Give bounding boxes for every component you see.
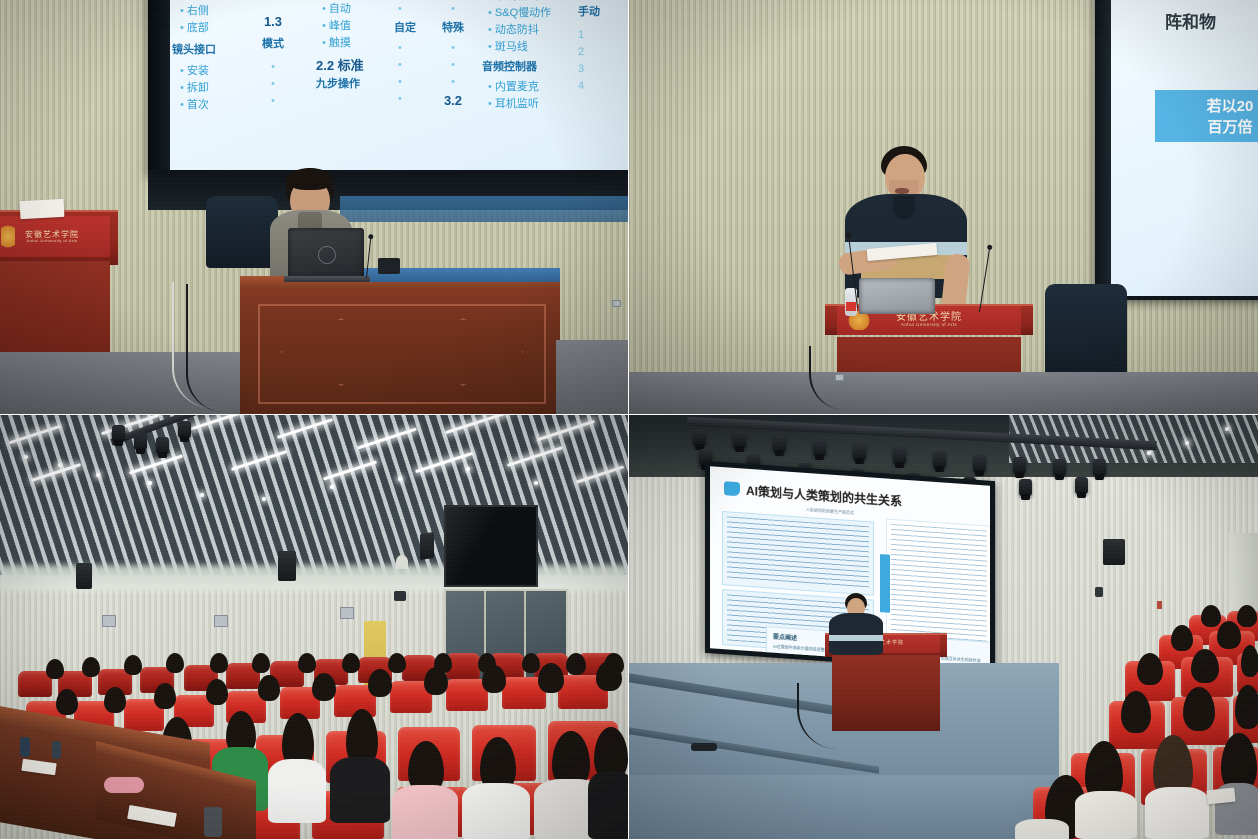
- stage-lamp: [156, 437, 169, 454]
- audience-head: [124, 655, 142, 675]
- downlight: [24, 455, 28, 459]
- stage-lamp: [733, 431, 746, 448]
- torso: [829, 613, 883, 655]
- slide-bullet-icon: [724, 481, 740, 496]
- slide-highlight-box: 若以20 百万倍: [1155, 90, 1258, 142]
- university-emblem-icon: [1, 223, 15, 249]
- stage-lamp: [1013, 457, 1026, 474]
- audience-member: [588, 727, 628, 839]
- shirt-collar: [893, 196, 915, 220]
- audience-head: [206, 679, 228, 705]
- pink-bag: [104, 777, 144, 793]
- panel-top-left: 制） 右侧 底部 镜头接口 安装 拆卸 首次 1.3 模式 ••• 关键功能 自…: [0, 0, 628, 414]
- wall-outlet: [340, 607, 354, 619]
- floor: [629, 372, 1258, 414]
- audience-head: [424, 667, 448, 695]
- stage-backdrop: [340, 196, 628, 222]
- stage-lamp: [1019, 479, 1032, 496]
- audience-head: [342, 653, 360, 673]
- slide-title: AI策划与人类策划的共生关系: [746, 482, 902, 510]
- audience-head: [482, 665, 506, 693]
- stage-lamp: [933, 451, 946, 468]
- wall-speaker: [278, 551, 296, 581]
- slide-subtitle: 人机协同的创意生产新范式: [806, 507, 854, 516]
- wall-speaker: [76, 563, 92, 589]
- wall-outlet: [102, 615, 116, 627]
- audience-torso: [1015, 819, 1069, 839]
- podium-paper: [20, 199, 65, 219]
- audience-head: [596, 661, 622, 691]
- panel-top-right: 阵和物 若以20 百万倍: [629, 0, 1258, 414]
- wall-outlet: [612, 300, 621, 307]
- slide-column-3: 关键功能 自动 峰值 触摸 2.2 标准 九步操作: [316, 0, 364, 93]
- downlight: [148, 481, 152, 485]
- slide-heading: 阵和物: [1165, 8, 1216, 33]
- laptop-base: [284, 276, 370, 282]
- torso: [268, 759, 326, 823]
- projection-screen: 制） 右侧 底部 镜头接口 安装 拆卸 首次 1.3 模式 ••• 关键功能 自…: [148, 0, 628, 176]
- stage-lamp: [813, 439, 826, 456]
- torso: [588, 771, 628, 839]
- wall-monitor: [444, 505, 538, 587]
- screen-bezel: [1095, 0, 1111, 300]
- slide-column-1: 制） 右侧 底部 镜头接口 安装 拆卸 首次: [180, 0, 216, 114]
- downlight: [1225, 427, 1229, 431]
- slide-column-7: 手动 1 2 3 4: [578, 4, 600, 95]
- audience-head: [388, 653, 406, 673]
- projection-screen: 阵和物 若以20 百万倍: [1095, 0, 1258, 300]
- downlight: [466, 467, 470, 471]
- downlight: [330, 485, 334, 489]
- audience-member: [392, 741, 458, 839]
- audience-head: [154, 683, 176, 709]
- security-camera: [1095, 587, 1103, 597]
- stage-lamp: [178, 421, 191, 438]
- audience-head: [56, 689, 78, 715]
- audience-member: [330, 709, 390, 823]
- slide-footer-heading: 要点阐述: [773, 632, 797, 643]
- audience-head: [258, 675, 280, 701]
- torso: [330, 757, 390, 823]
- stage-lamp: [853, 443, 866, 460]
- stage-lamp: [973, 455, 986, 472]
- tumbler: [204, 807, 222, 837]
- audience-head: [1171, 625, 1193, 651]
- torso: [392, 785, 458, 839]
- lecture-desk: [240, 276, 560, 414]
- slide-column-5: •• 特殊 ••• 3.2: [442, 0, 464, 111]
- water-bottle: [52, 741, 61, 759]
- ceiling-camera: [396, 555, 408, 569]
- downlight: [398, 477, 402, 481]
- audience-head: [312, 673, 336, 701]
- slide-column-4: •• 自定 ••••: [398, 0, 416, 108]
- audience-head: [166, 653, 184, 673]
- security-camera: [394, 591, 406, 601]
- laptop-logo-icon: [318, 246, 336, 264]
- audio-device: [378, 258, 400, 274]
- stage-lamp: [1075, 477, 1088, 494]
- audience-head: [252, 653, 270, 673]
- slide-column-6: 录制格式 S&Q慢动作 动态防抖 斑马线 音频控制器 内置麦克 耳机监听: [488, 0, 551, 113]
- stage-lamp: [1093, 459, 1106, 476]
- office-chair: [1045, 284, 1127, 376]
- audience-head: [1137, 653, 1163, 685]
- floor-cable-box: [691, 743, 717, 751]
- stage-lamp: [773, 435, 786, 452]
- panel-bottom-right: AI策划与人类策划的共生关系 人机协同的创意生产新范式 要点阐述 AI在策划中承…: [629, 415, 1258, 839]
- av-cable: [186, 284, 224, 412]
- wall-speaker: [420, 532, 434, 560]
- audience-head: [1183, 687, 1215, 731]
- stage-lamp: [893, 447, 906, 464]
- slide-text-block-left: [722, 511, 874, 596]
- audience-torso: [1075, 791, 1137, 839]
- audience-head: [522, 653, 540, 673]
- laptop[interactable]: [288, 228, 364, 278]
- audience-head: [298, 653, 316, 673]
- audience-head: [82, 657, 100, 677]
- downlight: [534, 481, 538, 485]
- screen-surface: 阵和物 若以20 百万倍: [1111, 0, 1258, 296]
- notebook: [1206, 788, 1235, 805]
- podium-sign: 安徽艺术学院 Anhui University of Arts: [0, 216, 110, 257]
- floor-right: [556, 340, 628, 414]
- audience-head: [1191, 649, 1219, 683]
- wall-speaker: [1103, 539, 1125, 565]
- downlight: [1147, 451, 1151, 455]
- bottle-label: [846, 302, 856, 311]
- slide-column-2: 1.3 模式 •••: [262, 12, 284, 110]
- speaker-fringe: [286, 168, 334, 190]
- audience-head: [1217, 621, 1241, 649]
- audience-head: [538, 663, 564, 693]
- podium-body: [832, 655, 939, 731]
- slide-body-lines: [727, 516, 869, 590]
- audience-head: [210, 653, 228, 673]
- audience-head: [1201, 605, 1221, 627]
- audience-back-view: [959, 605, 1258, 839]
- laptop[interactable]: [859, 278, 935, 314]
- audience-head: [46, 659, 64, 679]
- downlight: [96, 473, 100, 477]
- stage-lamp: [693, 429, 706, 446]
- water-bottle: [20, 737, 30, 757]
- stage-lamp: [1053, 459, 1066, 476]
- torso: [462, 783, 530, 839]
- audience-torso: [1145, 787, 1209, 839]
- screen-surface: 制） 右侧 底部 镜头接口 安装 拆卸 首次 1.3 模式 ••• 关键功能 自…: [170, 0, 628, 172]
- shirt-stripe: [829, 635, 883, 641]
- downlight: [262, 497, 266, 501]
- audience-member: [268, 713, 326, 823]
- downlight: [200, 493, 204, 497]
- presenter-on-stage: [825, 593, 885, 655]
- stage-lamp: [134, 433, 147, 450]
- downlight: [58, 463, 62, 467]
- screen-bezel: [148, 0, 170, 176]
- audience-head: [1237, 605, 1257, 627]
- collage-divider-vertical: [628, 0, 629, 839]
- downlight: [1185, 441, 1189, 445]
- photo-collage: 制） 右侧 底部 镜头接口 安装 拆卸 首次 1.3 模式 ••• 关键功能 自…: [0, 0, 1258, 839]
- audience-head: [1121, 691, 1151, 733]
- audience-member: [462, 737, 530, 839]
- wall-outlet: [214, 615, 228, 627]
- panel-bottom-left: [0, 415, 628, 839]
- audience-head: [1241, 645, 1258, 677]
- stage-lamp: [112, 425, 125, 442]
- audience-head: [104, 687, 126, 713]
- audience-head: [1235, 685, 1258, 729]
- wall-outlet: [835, 374, 844, 381]
- collage-divider-horizontal: [0, 414, 1258, 415]
- audience-head: [368, 669, 392, 697]
- audience-head: [566, 653, 586, 675]
